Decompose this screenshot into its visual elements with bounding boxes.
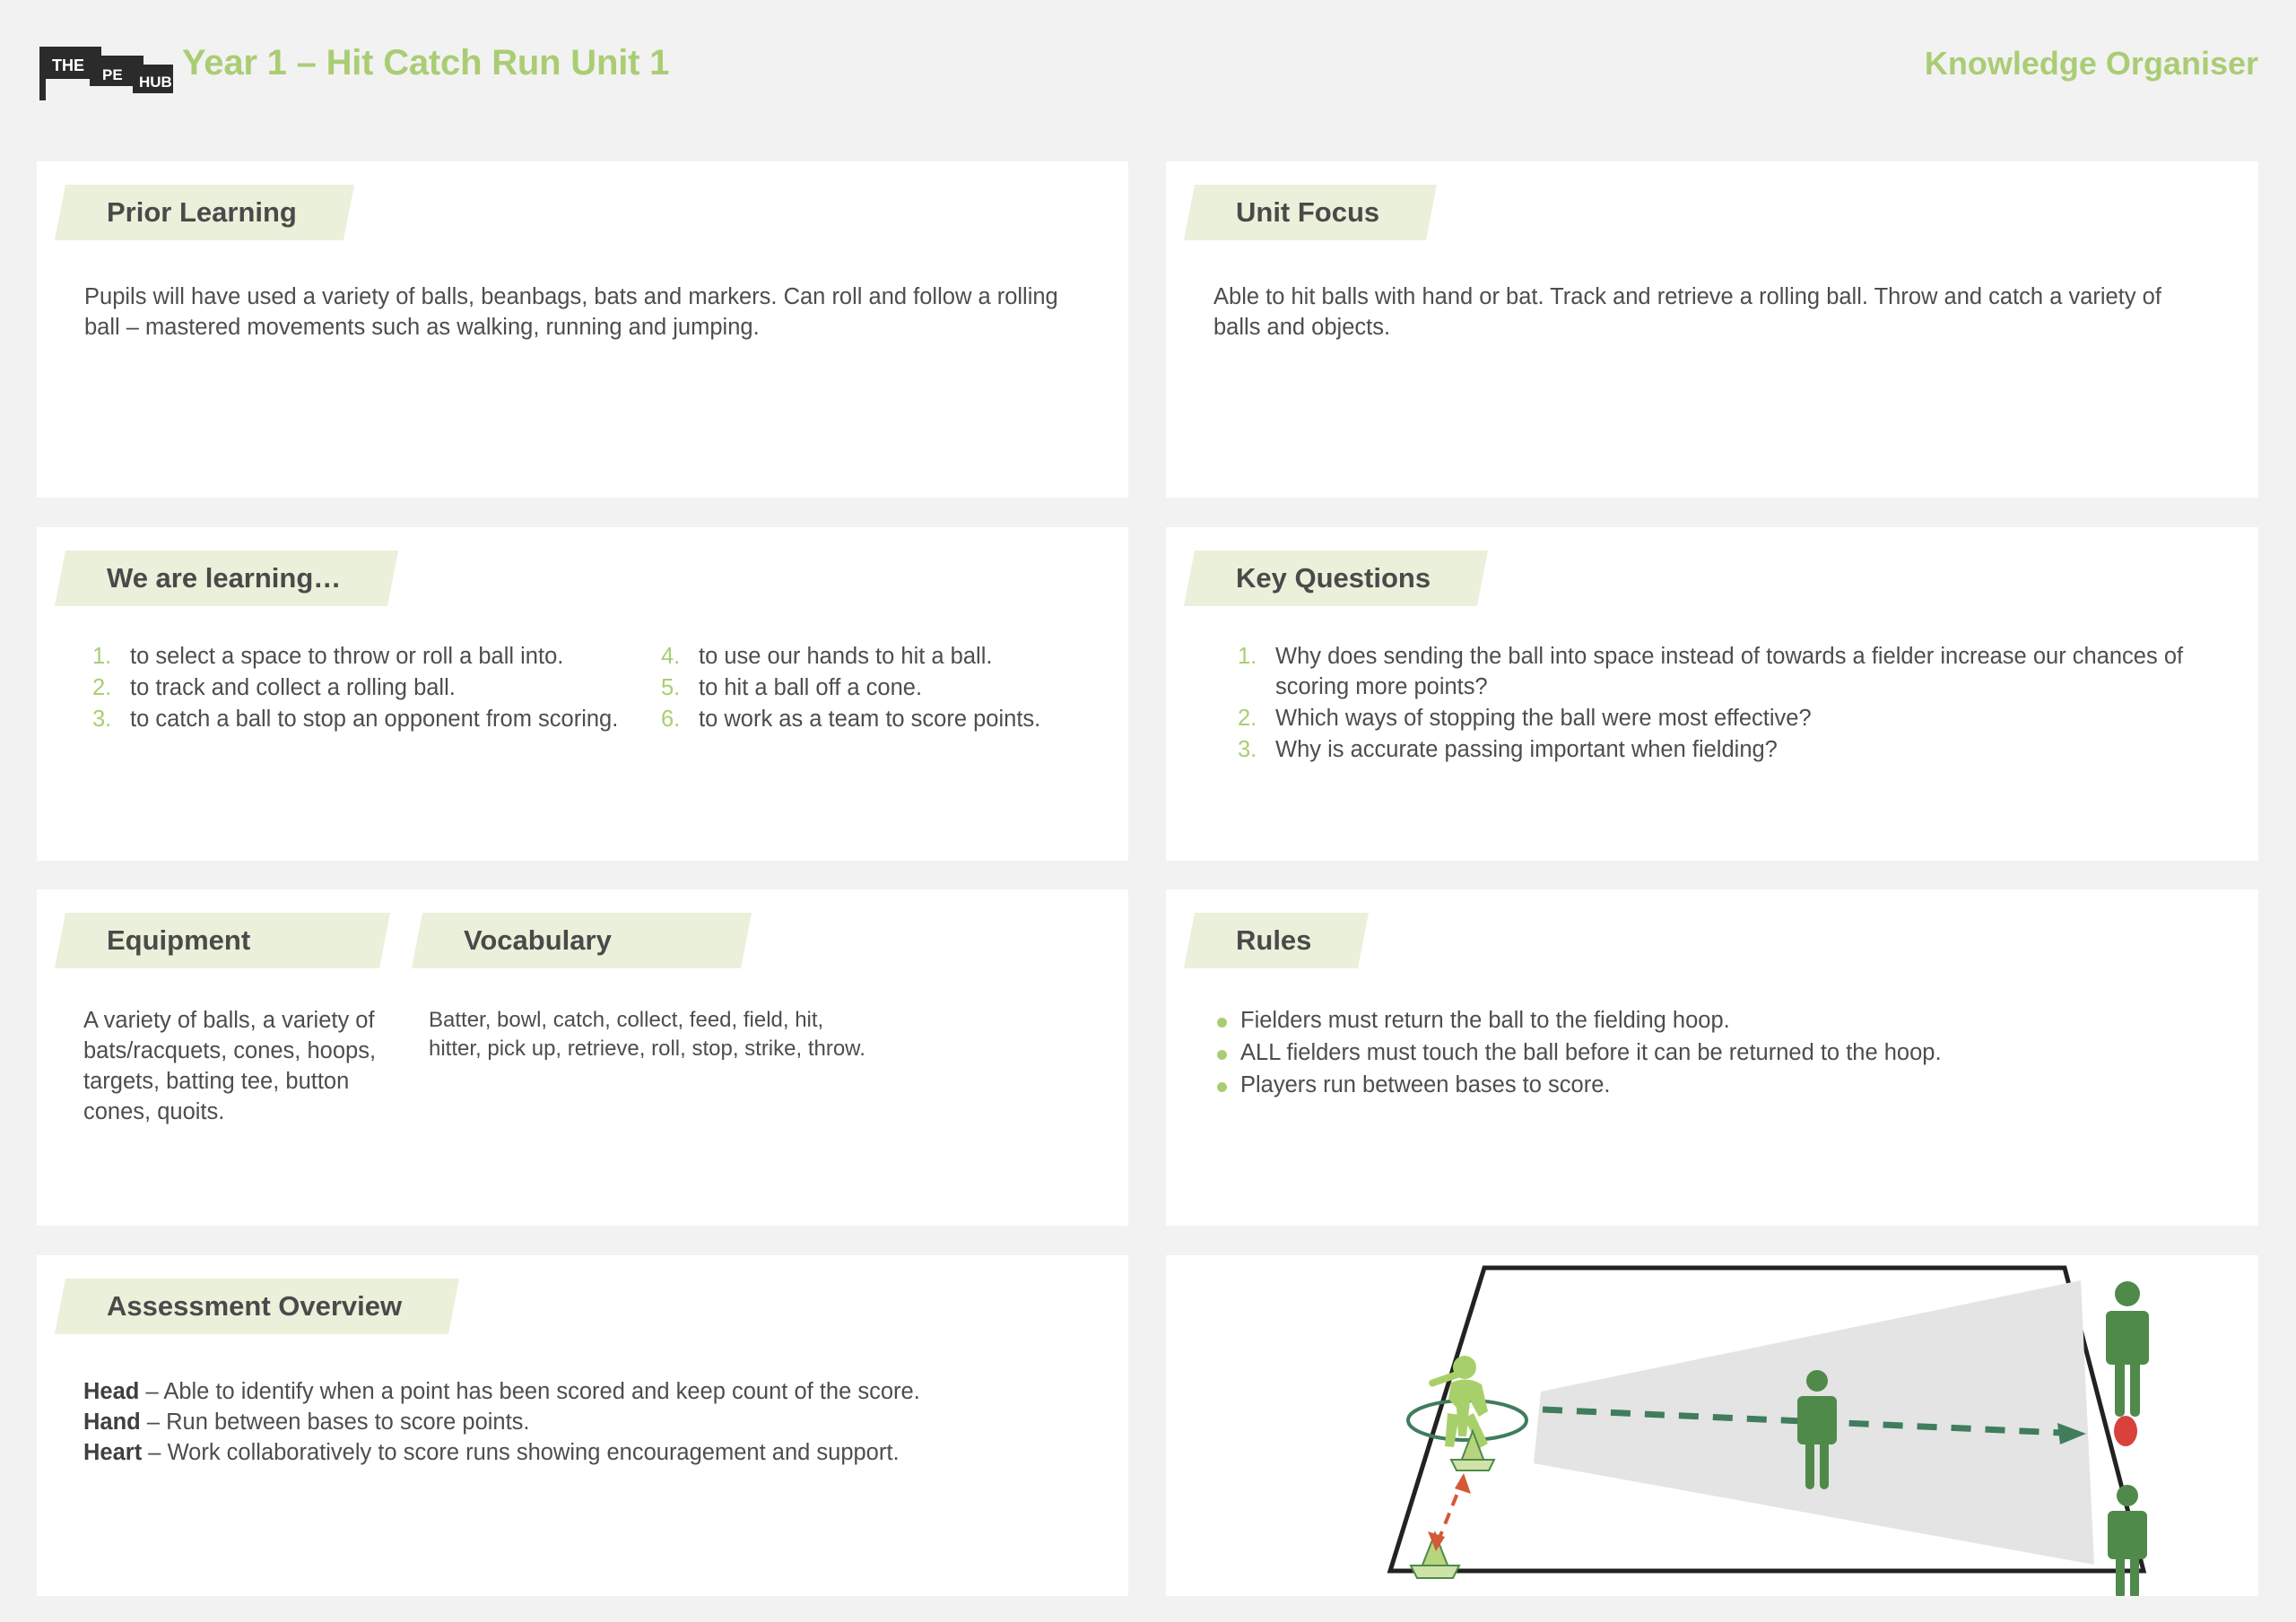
list-text: to select a space to throw or roll a bal…	[130, 642, 563, 672]
assessment-dash: –	[141, 1409, 166, 1435]
list-item: 2. to track and collect a rolling ball.	[92, 673, 638, 704]
prior-learning-body: Pupils will have used a variety of balls…	[84, 282, 1065, 343]
assessment-text: Able to identify when a point has been s…	[163, 1379, 919, 1404]
bullet-icon	[1217, 1006, 1240, 1028]
list-item: Players run between bases to score.	[1217, 1071, 2222, 1101]
card-heading-rules: Rules	[1236, 913, 1311, 968]
assessment-dash: –	[139, 1379, 163, 1404]
card-we-are-learning: We are learning… 1. to select a space to…	[37, 527, 1128, 861]
list-text: to catch a ball to stop an opponent from…	[130, 705, 618, 735]
pe-hub-logo: THE PE HUB	[34, 43, 178, 102]
svg-text:PE: PE	[102, 66, 123, 83]
list-text: to track and collect a rolling ball.	[130, 673, 456, 704]
list-number: 1.	[92, 642, 130, 672]
svg-text:THE: THE	[52, 56, 84, 74]
card-heading-vocabulary: Vocabulary	[464, 913, 612, 968]
card-unit-focus: Unit Focus Able to hit balls with hand o…	[1166, 161, 2258, 498]
card-heading-prior-learning: Prior Learning	[107, 185, 297, 240]
list-item: 3. Why is accurate passing important whe…	[1238, 735, 2222, 766]
card-heading-banner-unit-focus: Unit Focus	[1184, 185, 1437, 240]
list-text: ALL fielders must touch the ball before …	[1240, 1038, 1942, 1069]
list-number: 2.	[92, 673, 130, 704]
assessment-line-hand: Hand – Run between bases to score points…	[83, 1408, 1074, 1438]
list-text: to use our hands to hit a ball.	[699, 642, 992, 672]
document-type-label: Knowledge Organiser	[1925, 45, 2258, 82]
list-item: 4. to use our hands to hit a ball.	[661, 642, 1127, 672]
assessment-line-head: Head – Able to identify when a point has…	[83, 1377, 1074, 1408]
list-item: 3. to catch a ball to stop an opponent f…	[92, 705, 638, 735]
card-assessment-overview: Assessment Overview Head – Able to ident…	[37, 1255, 1128, 1596]
learning-objectives-column-left: 1. to select a space to throw or roll a …	[92, 642, 638, 736]
key-questions-list: 1. Why does sending the ball into space …	[1238, 642, 2222, 766]
list-item: 1. to select a space to throw or roll a …	[92, 642, 638, 672]
assessment-label: Heart	[83, 1440, 142, 1465]
assessment-line-heart: Heart – Work collaboratively to score ru…	[83, 1438, 1074, 1469]
card-heading-equipment: Equipment	[107, 913, 250, 968]
card-heading-banner-we-are-learning: We are learning…	[55, 551, 398, 606]
learning-objectives-column-right: 4. to use our hands to hit a ball. 5. to…	[661, 642, 1127, 736]
rules-list: Fielders must return the ball to the fie…	[1217, 1006, 2222, 1101]
list-number: 1.	[1238, 642, 1275, 672]
pe-hub-logo-icon: THE PE HUB	[34, 43, 178, 102]
assessment-label: Head	[83, 1379, 139, 1404]
card-rules: Rules Fielders must return the ball to t…	[1166, 889, 2258, 1226]
fielder-figure-top	[2106, 1281, 2149, 1417]
list-item: 6. to work as a team to score points.	[661, 705, 1127, 735]
list-number: 3.	[92, 705, 130, 735]
hit-catch-run-pitch-diagram	[1166, 1255, 2258, 1596]
card-heading-we-are-learning: We are learning…	[107, 551, 341, 606]
assessment-label: Hand	[83, 1409, 141, 1435]
svg-text:HUB: HUB	[139, 74, 172, 91]
card-key-questions: Key Questions 1. Why does sending the ba…	[1166, 527, 2258, 861]
list-number: 5.	[661, 673, 699, 704]
assessment-text: Run between bases to score points.	[166, 1409, 529, 1435]
list-text: Which ways of stopping the ball were mos…	[1275, 704, 1812, 734]
card-prior-learning: Prior Learning Pupils will have used a v…	[37, 161, 1128, 498]
card-heading-banner-assessment-overview: Assessment Overview	[55, 1279, 459, 1334]
page-header: THE PE HUB Year 1 – Hit Catch Run Unit 1…	[0, 0, 2296, 145]
bullet-icon	[1217, 1071, 1240, 1092]
list-text: Players run between bases to score.	[1240, 1071, 1610, 1101]
card-pitch-diagram	[1166, 1255, 2258, 1596]
list-item: 2. Which ways of stopping the ball were …	[1238, 704, 2222, 734]
card-equipment-vocabulary: Equipment Vocabulary A variety of balls,…	[37, 889, 1128, 1226]
vocabulary-body: Batter, bowl, catch, collect, feed, fiel…	[429, 1006, 882, 1128]
list-item: ALL fielders must touch the ball before …	[1217, 1038, 2222, 1069]
list-number: 4.	[661, 642, 699, 672]
card-heading-unit-focus: Unit Focus	[1236, 185, 1379, 240]
list-text: Why does sending the ball into space ins…	[1275, 642, 2222, 703]
bullet-icon	[1217, 1038, 1240, 1060]
list-text: Fielders must return the ball to the fie…	[1240, 1006, 1730, 1037]
list-text: to work as a team to score points.	[699, 705, 1040, 735]
equipment-body: A variety of balls, a variety of bats/ra…	[83, 1006, 379, 1128]
list-text: Why is accurate passing important when f…	[1275, 735, 1778, 766]
assessment-dash: –	[142, 1440, 167, 1465]
card-heading-banner-rules: Rules	[1184, 913, 1369, 968]
card-heading-banner-prior-learning: Prior Learning	[55, 185, 354, 240]
list-number: 3.	[1238, 735, 1275, 766]
card-heading-banner-key-questions: Key Questions	[1184, 551, 1488, 606]
list-item: Fielders must return the ball to the fie…	[1217, 1006, 2222, 1037]
list-number: 6.	[661, 705, 699, 735]
unit-focus-body: Able to hit balls with hand or bat. Trac…	[1213, 282, 2205, 343]
card-heading-key-questions: Key Questions	[1236, 551, 1431, 606]
page-title: Year 1 – Hit Catch Run Unit 1	[182, 43, 669, 83]
card-heading-banner-equipment: Equipment	[55, 913, 390, 968]
list-item: 5. to hit a ball off a cone.	[661, 673, 1127, 704]
card-heading-banner-vocabulary: Vocabulary	[412, 913, 752, 968]
list-number: 2.	[1238, 704, 1275, 734]
list-item: 1. Why does sending the ball into space …	[1238, 642, 2222, 703]
list-text: to hit a ball off a cone.	[699, 673, 922, 704]
ball-red	[2114, 1416, 2137, 1446]
card-heading-assessment-overview: Assessment Overview	[107, 1279, 402, 1334]
assessment-text: Work collaboratively to score runs showi…	[168, 1440, 900, 1465]
